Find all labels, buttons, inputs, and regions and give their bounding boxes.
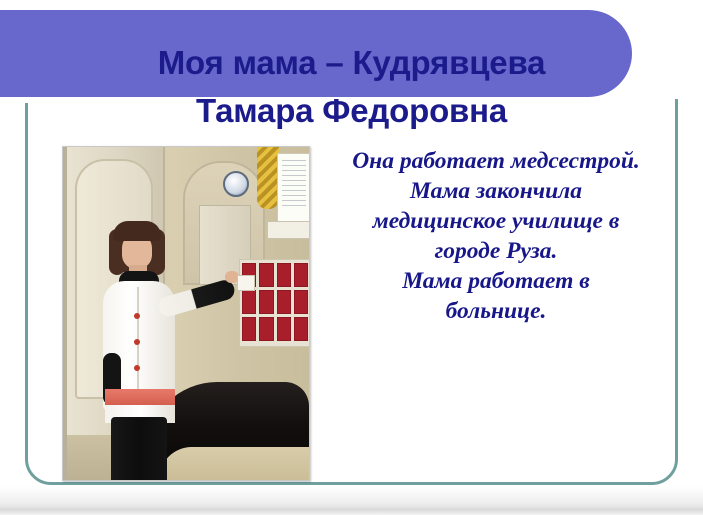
photo-woman (95, 221, 187, 480)
photo-coat-button (134, 365, 140, 371)
photo-red-card (259, 290, 273, 314)
presentation-slide: Моя мама – Кудрявцева Тамара Федоровна (0, 0, 703, 515)
photo-tinsel-garland (257, 147, 279, 209)
body-paragraph-2: Мама работает в больнице. (352, 266, 640, 326)
slide-bottom-strip (0, 486, 703, 515)
photo-red-card (294, 263, 308, 287)
photo-red-card (277, 317, 291, 341)
photo-coat-red-trim (105, 389, 175, 405)
photo-coat-button (134, 339, 140, 345)
photo-red-card (242, 290, 256, 314)
photo-red-card (242, 317, 256, 341)
photo-red-card (277, 263, 291, 287)
photo-red-card (259, 263, 273, 287)
photo-background-person (309, 235, 310, 265)
photo-woman-trousers (111, 417, 167, 480)
slide-body-text: Она работает медсестрой. Мама закончила … (352, 146, 640, 326)
photo-wall-document (277, 153, 310, 223)
photo-red-card (259, 317, 273, 341)
photo-frame (62, 146, 310, 481)
photo-red-card (294, 290, 308, 314)
photo-clock (223, 171, 249, 197)
body-paragraph-1: Она работает медсестрой. Мама закончила … (352, 146, 640, 266)
photo-white-card-in-hand (237, 275, 255, 291)
photo-woman-fringe (113, 221, 161, 241)
photo-nurse-at-noticeboard (63, 147, 309, 480)
photo-red-card (294, 317, 308, 341)
photo-red-card (277, 290, 291, 314)
photo-coat-button (134, 313, 140, 319)
photo-door-frame (63, 147, 67, 480)
banner-underline (0, 99, 616, 103)
title-banner (0, 10, 632, 97)
photo-wall-document-2 (267, 221, 310, 239)
